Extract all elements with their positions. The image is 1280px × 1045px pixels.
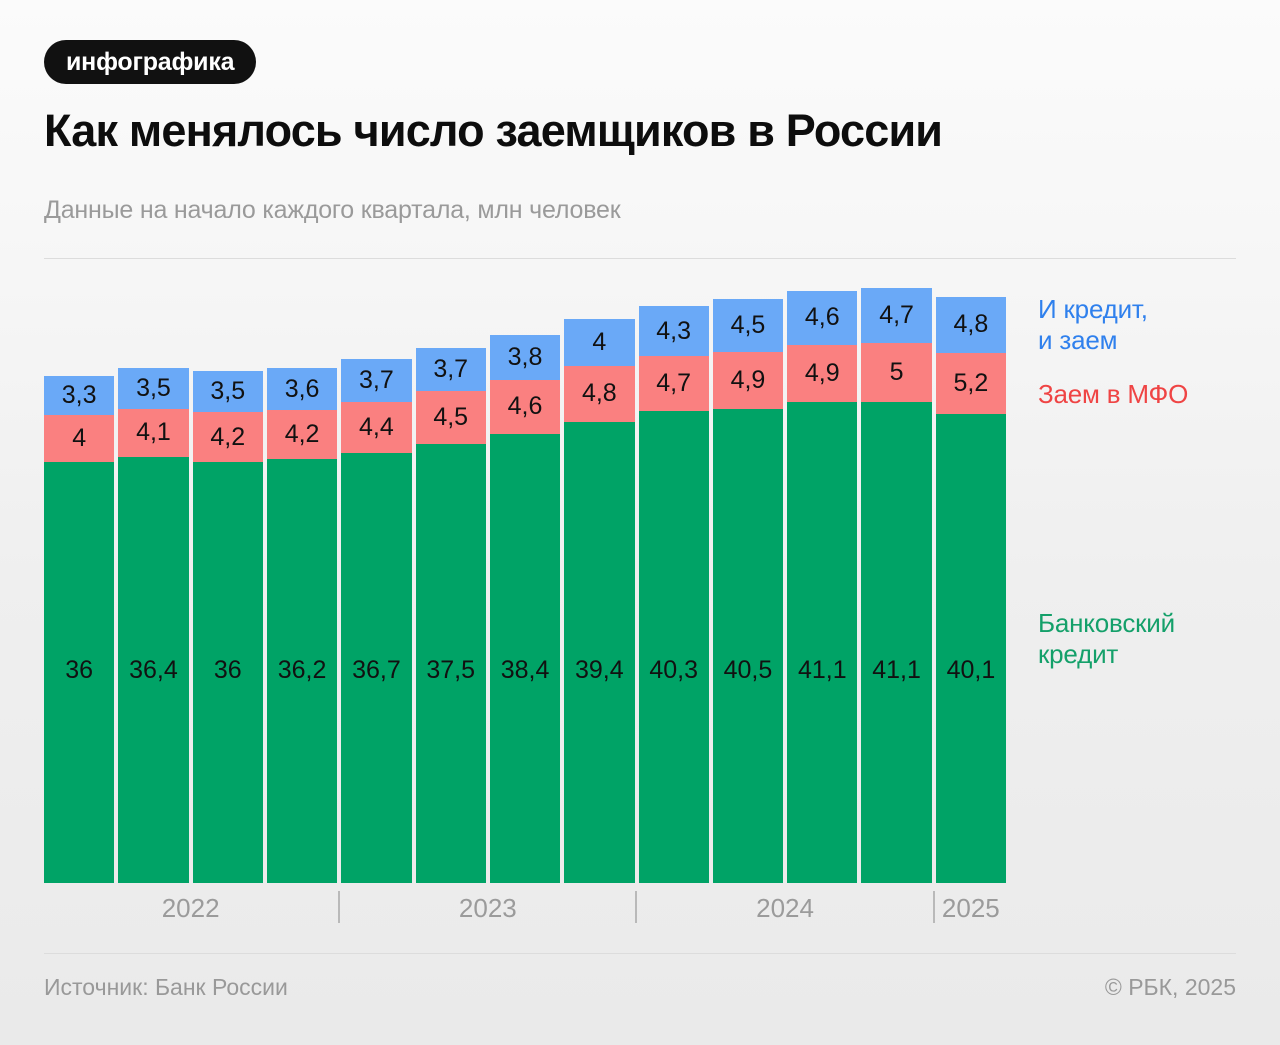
- bar-segment-value: 3,7: [359, 368, 394, 393]
- bar-segment-value: 4,9: [731, 368, 766, 393]
- bar-column[interactable]: 4,34,740,3: [639, 306, 709, 883]
- bar-segment-mfo: 4: [44, 415, 114, 462]
- bar-column[interactable]: 3,54,136,4: [118, 368, 188, 883]
- divider-top: [44, 258, 1236, 259]
- bar-segment-bank: 40,1: [936, 414, 1006, 883]
- bar-segment-both: 4,7: [861, 288, 931, 343]
- bar-segment-value: 4,5: [433, 405, 468, 430]
- legend-item-mfo: Заем в МФО: [1038, 379, 1188, 410]
- source-label: Источник: Банк России: [44, 974, 288, 1001]
- bar-segment-bank: 37,5: [416, 444, 486, 883]
- bar-column[interactable]: 44,839,4: [564, 319, 634, 883]
- bar-segment-mfo: 4,9: [787, 345, 857, 402]
- axis-year-label: 2023: [459, 893, 517, 924]
- bar-segment-bank: 36,4: [118, 457, 188, 883]
- bar-segment-both: 4,5: [713, 299, 783, 352]
- bar-segment-value: 4,9: [805, 361, 840, 386]
- bar-segment-value: 4,3: [656, 319, 691, 344]
- bar-column[interactable]: 3,74,436,7: [341, 359, 411, 883]
- bar-segment-mfo: 5,2: [936, 353, 1006, 414]
- bar-segment-bank: 38,4: [490, 434, 560, 884]
- bar-segment-value: 4,7: [656, 371, 691, 396]
- bar-segment-value: 4,6: [508, 394, 543, 419]
- legend-item-bank: Банковский кредит: [1038, 608, 1175, 669]
- axis-year-label: 2025: [942, 893, 1000, 924]
- bar-segment-bank: 41,1: [787, 402, 857, 883]
- bar-segment-both: 3,3: [44, 376, 114, 415]
- bar-segment-bank: 40,3: [639, 411, 709, 883]
- bar-segment-value: 37,5: [416, 658, 486, 683]
- bar-segment-bank: 36: [193, 462, 263, 883]
- bar-segment-value: 4,2: [285, 422, 320, 447]
- bar-segment-value: 4,4: [359, 415, 394, 440]
- bar-column[interactable]: 3,64,236,2: [267, 368, 337, 883]
- bar-segment-value: 36,4: [118, 658, 188, 683]
- bar-segment-value: 36: [193, 658, 263, 683]
- bar-segment-both: 3,8: [490, 335, 560, 379]
- bar-segment-mfo: 4,5: [416, 391, 486, 444]
- axis-year-label: 2024: [756, 893, 814, 924]
- bar-segment-value: 4,1: [136, 420, 171, 445]
- page-title: Как менялось число заемщиков в России: [44, 105, 942, 157]
- bar-segment-bank: 40,5: [713, 409, 783, 883]
- bar-segment-both: 4: [564, 319, 634, 366]
- bar-column[interactable]: 4,7541,1: [861, 288, 931, 883]
- bar-segment-value: 4: [72, 426, 86, 451]
- bar-segment-value: 41,1: [861, 658, 931, 683]
- bar-segment-value: 40,3: [639, 658, 709, 683]
- bar-segment-mfo: 4,7: [639, 356, 709, 411]
- bar-segment-bank: 36: [44, 462, 114, 883]
- stacked-bar-chart: 3,34363,54,136,43,54,2363,64,236,23,74,4…: [44, 286, 1006, 883]
- bar-segment-value: 4,6: [805, 305, 840, 330]
- bar-segment-value: 36,2: [267, 658, 337, 683]
- bar-segment-mfo: 4,8: [564, 366, 634, 422]
- bar-segment-value: 4,7: [879, 303, 914, 328]
- bar-segment-value: 38,4: [490, 658, 560, 683]
- bar-segment-mfo: 4,9: [713, 352, 783, 409]
- bar-segment-value: 3,5: [136, 376, 171, 401]
- axis-separator-tick: [635, 891, 637, 923]
- bar-segment-value: 5,2: [954, 371, 989, 396]
- bar-segment-mfo: 4,4: [341, 402, 411, 454]
- bar-segment-mfo: 5: [861, 343, 931, 402]
- bar-column[interactable]: 3,84,638,4: [490, 335, 560, 883]
- axis-separator-tick: [338, 891, 340, 923]
- bar-column[interactable]: 3,74,537,5: [416, 348, 486, 883]
- infographic-page: инфографика Как менялось число заемщиков…: [0, 0, 1280, 1045]
- bar-group: 3,34363,54,136,43,54,2363,64,236,23,74,4…: [44, 286, 1006, 883]
- bar-segment-value: 41,1: [787, 658, 857, 683]
- bar-segment-value: 5: [890, 360, 904, 385]
- bar-segment-value: 40,1: [936, 658, 1006, 683]
- bar-segment-mfo: 4,2: [193, 412, 263, 461]
- bar-column[interactable]: 4,85,240,1: [936, 297, 1006, 883]
- bar-segment-both: 3,5: [118, 368, 188, 409]
- bar-segment-both: 3,7: [416, 348, 486, 391]
- bar-segment-value: 3,5: [210, 379, 245, 404]
- bar-segment-value: 36,7: [341, 658, 411, 683]
- legend-item-both: И кредит, и заем: [1038, 294, 1148, 355]
- bar-segment-value: 3,7: [433, 357, 468, 382]
- bar-segment-both: 4,6: [787, 291, 857, 345]
- divider-bottom: [44, 953, 1236, 954]
- bar-column[interactable]: 3,54,236: [193, 371, 263, 883]
- bar-segment-bank: 41,1: [861, 402, 931, 883]
- page-subtitle: Данные на начало каждого квартала, млн ч…: [44, 196, 620, 225]
- copyright-label: © РБК, 2025: [1105, 974, 1236, 1001]
- bar-segment-both: 3,5: [193, 371, 263, 412]
- axis-separator-tick: [933, 891, 935, 923]
- bar-segment-value: 4,5: [731, 313, 766, 338]
- bar-column[interactable]: 4,64,941,1: [787, 291, 857, 883]
- bar-segment-value: 4,8: [954, 312, 989, 337]
- bar-segment-both: 4,8: [936, 297, 1006, 353]
- bar-segment-value: 36: [44, 658, 114, 683]
- bar-segment-bank: 36,2: [267, 459, 337, 883]
- bar-segment-value: 3,8: [508, 345, 543, 370]
- axis-year-label: 2022: [162, 893, 220, 924]
- bar-column[interactable]: 3,3436: [44, 376, 114, 883]
- bar-column[interactable]: 4,54,940,5: [713, 299, 783, 883]
- bar-segment-value: 4,2: [210, 425, 245, 450]
- bar-segment-value: 3,3: [62, 383, 97, 408]
- bar-segment-mfo: 4,6: [490, 380, 560, 434]
- x-axis: 2022202320242025: [44, 883, 1006, 941]
- bar-segment-bank: 39,4: [564, 422, 634, 883]
- bar-segment-value: 40,5: [713, 658, 783, 683]
- bar-segment-both: 4,3: [639, 306, 709, 356]
- bar-segment-value: 4,8: [582, 381, 617, 406]
- bar-segment-value: 39,4: [564, 658, 634, 683]
- bar-segment-mfo: 4,1: [118, 409, 188, 457]
- infographic-badge: инфографика: [44, 40, 256, 84]
- bar-segment-bank: 36,7: [341, 453, 411, 883]
- bar-segment-both: 3,7: [341, 359, 411, 402]
- bar-segment-value: 4: [592, 330, 606, 355]
- bar-segment-mfo: 4,2: [267, 410, 337, 459]
- bar-segment-value: 3,6: [285, 377, 320, 402]
- bar-segment-both: 3,6: [267, 368, 337, 410]
